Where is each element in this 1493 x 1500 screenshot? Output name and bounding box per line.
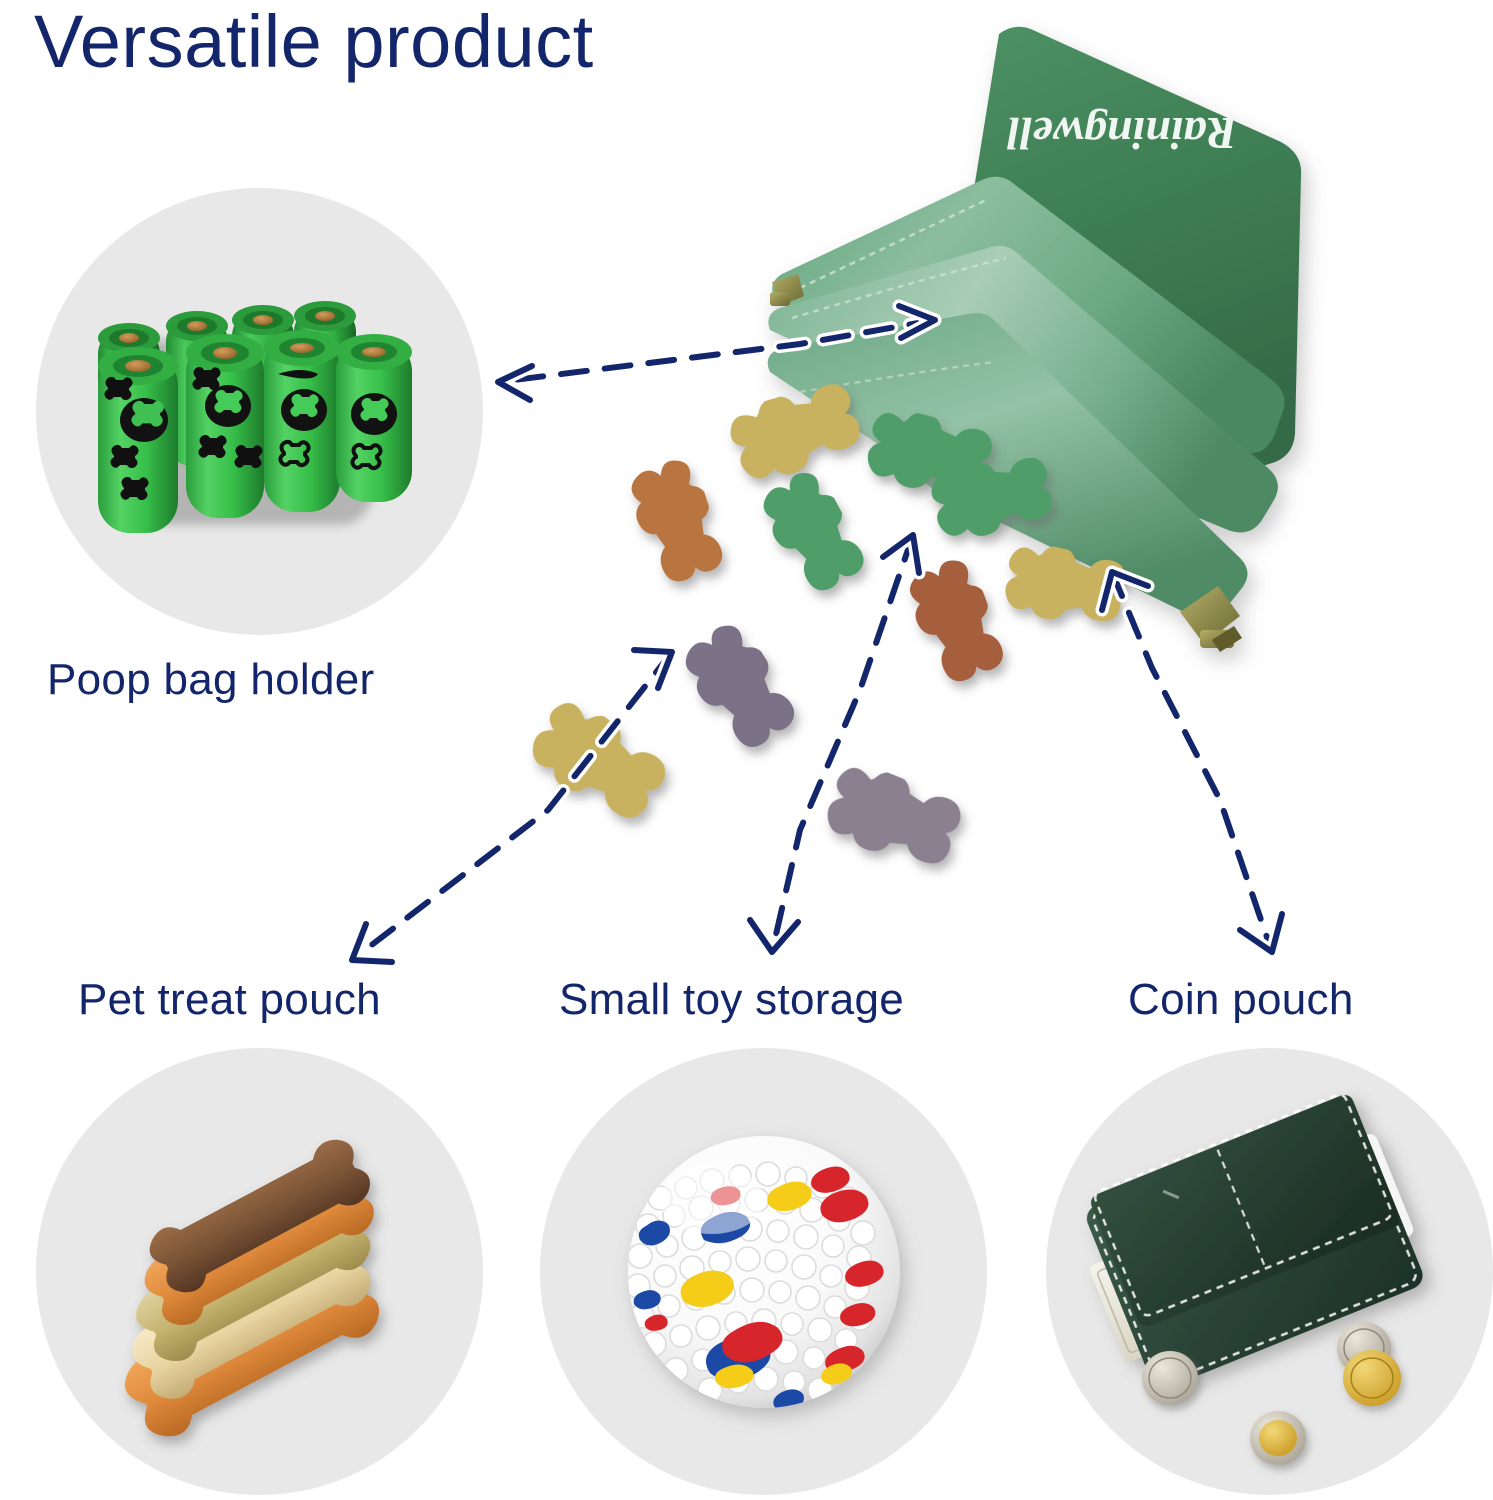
bone-treats-group (520, 377, 1130, 879)
foam-ball-illustration (540, 1048, 987, 1495)
arrow-poop-bag-holder (498, 306, 935, 400)
page-title: Versatile product (34, 0, 594, 89)
card-wallet-illustration: 100 (1046, 1048, 1493, 1495)
callout-label-pet-treat-pouch: Pet treat pouch (78, 975, 381, 1025)
arrow-coin-pouch (1102, 572, 1282, 952)
arrow-small-toy-storage (750, 535, 919, 952)
infographic-canvas: Versatile product (0, 0, 1493, 1500)
callout-label-poop-bag-holder: Poop bag holder (47, 655, 374, 705)
callout-label-coin-pouch: Coin pouch (1128, 975, 1354, 1025)
photo-circle-small-toy-storage (540, 1048, 987, 1495)
chew-bones-illustration (36, 1048, 483, 1495)
callout-label-small-toy-storage: Small toy storage (559, 975, 904, 1025)
poop-bag-rolls-illustration (36, 188, 483, 635)
photo-circle-coin-pouch: 100 (1046, 1048, 1493, 1495)
brand-logo-text: Rainingwell (1007, 108, 1238, 159)
photo-circle-poop-bag-holder (36, 188, 483, 635)
callout-arrows (352, 306, 1282, 962)
arrow-pet-treat-pouch (352, 650, 672, 962)
brass-spring-clip (770, 274, 1242, 652)
photo-circle-pet-treat-pouch (36, 1048, 483, 1495)
green-pouch-product: Rainingwell (768, 27, 1301, 652)
